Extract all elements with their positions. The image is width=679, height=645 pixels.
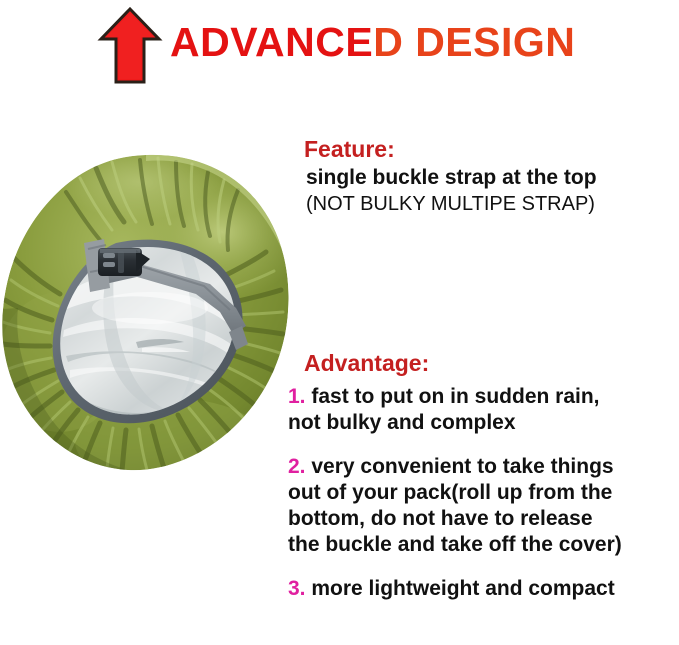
advantage-item-1: 1. fast to put on in sudden rain, not bu… <box>288 384 676 436</box>
page-title-part-2: D DESIGN <box>373 19 575 65</box>
header-banner: ADVANCED DESIGN <box>0 0 679 100</box>
advantage-item-2-text-4: the buckle and take off the cover) <box>288 532 676 558</box>
advantage-item-1-text-1: fast to put on in sudden rain, <box>311 385 599 408</box>
product-image <box>0 112 292 512</box>
advantage-item-3-line-1: 3. more lightweight and compact <box>288 576 676 602</box>
advantage-item-2-text-2: out of your pack(roll up from the <box>288 480 676 506</box>
feature-line-2: (NOT BULKY MULTIPE STRAP) <box>306 191 676 218</box>
feature-line-1: single buckle strap at the top <box>306 164 676 191</box>
page-title: ADVANCED DESIGN <box>170 18 575 66</box>
advantage-section: Advantage: 1. fast to put on in sudden r… <box>288 348 676 602</box>
advantage-item-2-text-1: very convenient to take things <box>311 455 613 478</box>
advantage-item-3-text-1: more lightweight and compact <box>311 577 614 600</box>
arrow-up-icon <box>97 6 163 86</box>
advantage-label: Advantage: <box>304 348 676 378</box>
product-infographic: ADVANCED DESIGN <box>0 0 679 645</box>
copy-column: Feature: single buckle strap at the top … <box>288 134 676 602</box>
advantage-item-2-line-1: 2. very convenient to take things <box>288 454 676 480</box>
feature-section: Feature: single buckle strap at the top … <box>288 134 676 218</box>
feature-label: Feature: <box>304 134 676 164</box>
advantage-item-1-line-1: 1. fast to put on in sudden rain, <box>288 384 676 410</box>
advantage-item-2-number: 2. <box>288 455 306 478</box>
advantage-item-3-number: 3. <box>288 577 306 600</box>
page-title-part-1: ADVANCE <box>170 19 373 65</box>
advantage-item-3: 3. more lightweight and compact <box>288 576 676 602</box>
advantage-item-2: 2. very convenient to take things out of… <box>288 454 676 558</box>
advantage-item-1-text-2: not bulky and complex <box>288 410 676 436</box>
advantage-item-2-text-3: bottom, do not have to release <box>288 506 676 532</box>
advantage-item-1-number: 1. <box>288 385 306 408</box>
